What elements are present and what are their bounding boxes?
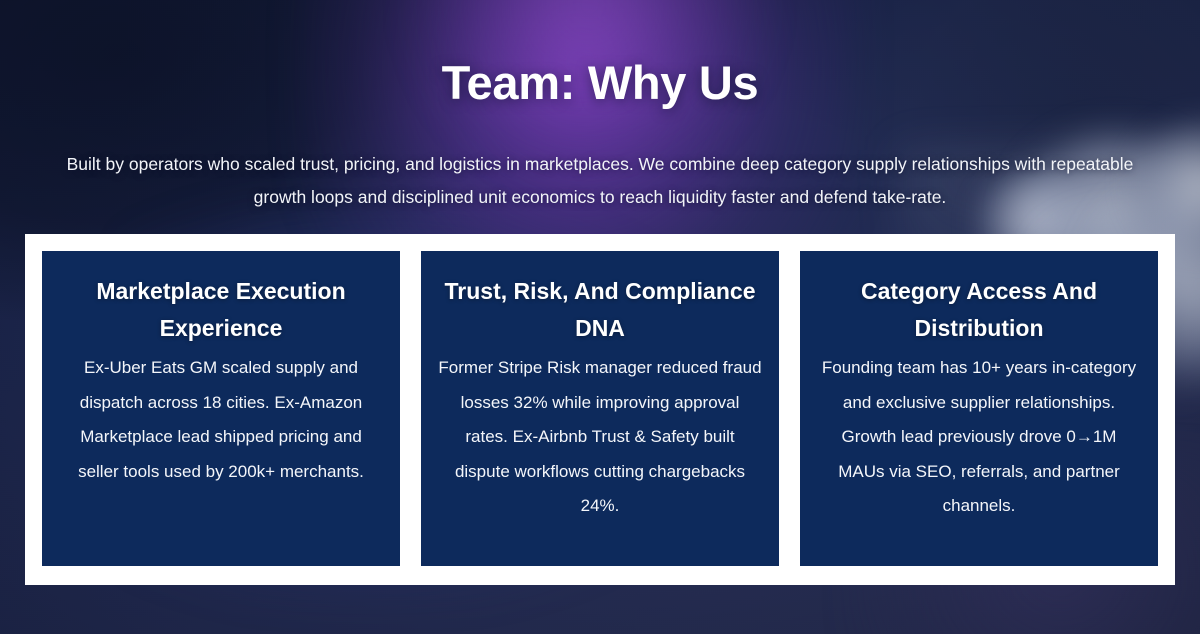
page-title: Team: Why Us [0, 55, 1200, 110]
feature-card-title: Trust, Risk, And Compliance DNA [438, 273, 762, 347]
feature-card-body: Ex-Uber Eats GM scaled supply and dispat… [59, 351, 383, 489]
slide-content: Team: Why Us Built by operators who scal… [0, 0, 1200, 634]
feature-card[interactable]: Trust, Risk, And Compliance DNA Former S… [421, 251, 779, 566]
feature-card-title: Marketplace Execution Experience [59, 273, 383, 347]
feature-card-body: Former Stripe Risk manager reduced fraud… [438, 351, 762, 524]
cards-row: Marketplace Execution Experience Ex-Uber… [42, 251, 1158, 566]
feature-card[interactable]: Category Access And Distribution Foundin… [800, 251, 1158, 566]
feature-card-title: Category Access And Distribution [817, 273, 1141, 347]
feature-card[interactable]: Marketplace Execution Experience Ex-Uber… [42, 251, 400, 566]
page-subtitle: Built by operators who scaled trust, pri… [45, 148, 1155, 214]
cards-panel: Marketplace Execution Experience Ex-Uber… [25, 234, 1175, 585]
feature-card-body: Founding team has 10+ years in-category … [817, 351, 1141, 524]
